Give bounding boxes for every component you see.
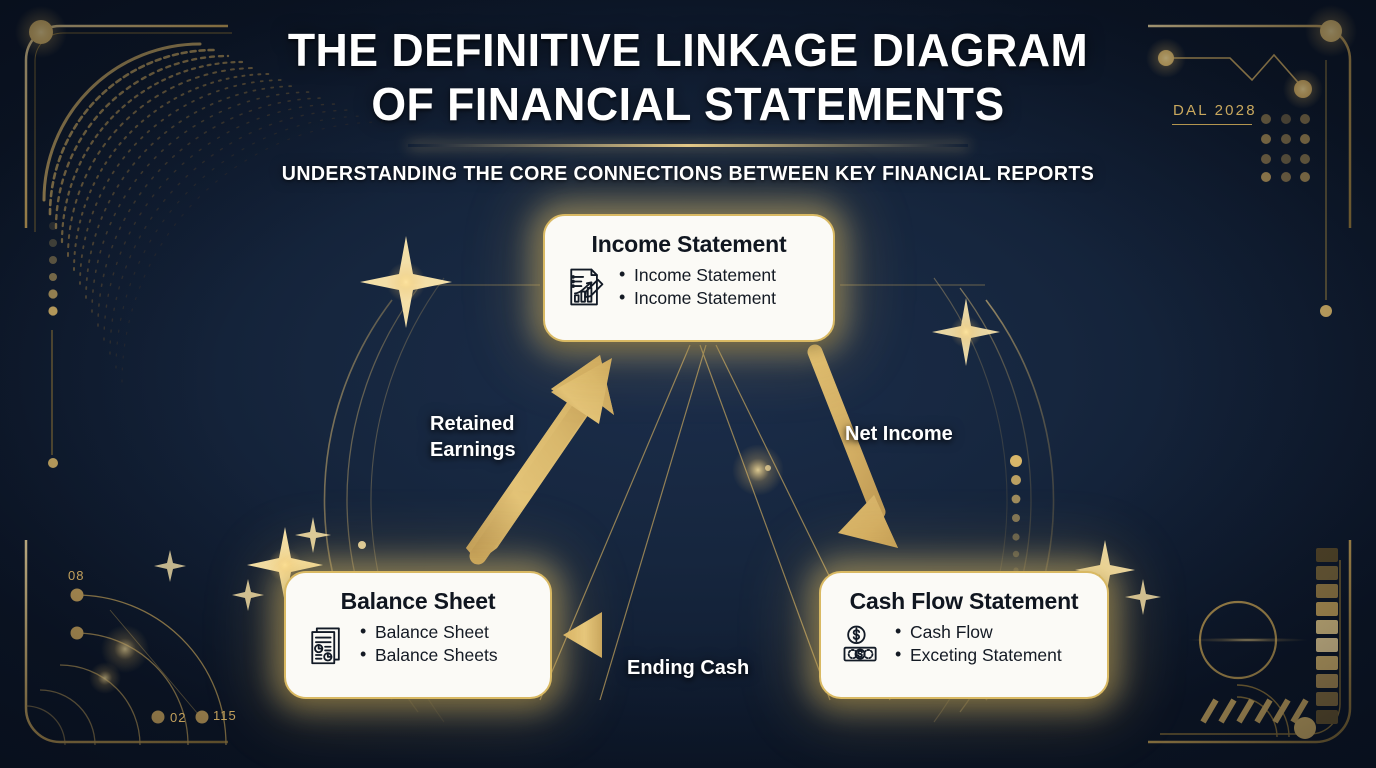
sparkle-icon bbox=[932, 298, 1000, 366]
list-item: Cash Flow bbox=[895, 621, 1062, 644]
node-card-income-statement[interactable]: Income Statement Income Statement bbox=[543, 214, 835, 342]
card-bullet-list: Cash Flow Exceting Statement bbox=[895, 621, 1062, 667]
center-flare bbox=[732, 444, 784, 496]
money-cash-icon bbox=[839, 622, 883, 666]
card-title: Balance Sheet bbox=[304, 587, 532, 615]
sparkle-icon bbox=[360, 236, 452, 328]
arrow-net-income bbox=[815, 352, 898, 548]
card-title: Cash Flow Statement bbox=[839, 587, 1089, 615]
sparkle-dot bbox=[358, 541, 366, 549]
list-item: Income Statement bbox=[619, 287, 776, 310]
list-item: Balance Sheet bbox=[360, 621, 498, 644]
infographic-canvas: THE DEFINITIVE LINKAGE DIAGRAM OF FINANC… bbox=[0, 0, 1376, 768]
sparkle-icon bbox=[232, 579, 264, 611]
header: THE DEFINITIVE LINKAGE DIAGRAM OF FINANC… bbox=[0, 24, 1376, 186]
sparkle-icon bbox=[154, 550, 186, 582]
list-item: Balance Sheets bbox=[360, 644, 498, 667]
document-chart-pen-icon bbox=[563, 265, 607, 309]
document-report-icon bbox=[304, 622, 348, 666]
card-bullet-list: Balance Sheet Balance Sheets bbox=[360, 621, 498, 667]
decor-radial-label-115: 115 bbox=[213, 708, 237, 723]
page-subtitle: UNDERSTANDING THE CORE CONNECTIONS BETWE… bbox=[14, 163, 1362, 186]
connection-label-net-income: Net Income bbox=[845, 421, 953, 447]
card-bullet-list: Income Statement Income Statement bbox=[619, 264, 776, 310]
connection-label-line1: Retained bbox=[430, 411, 550, 437]
card-title: Income Statement bbox=[563, 230, 815, 258]
page-title-line2: OF FINANCIAL STATEMENTS bbox=[21, 78, 1356, 130]
list-item: Income Statement bbox=[619, 264, 776, 287]
sparkle-icon bbox=[1125, 579, 1161, 615]
node-card-balance-sheet[interactable]: Balance Sheet Balance Sheet Balance Shee… bbox=[284, 571, 552, 699]
connection-label-ending-cash: Ending Cash bbox=[627, 655, 749, 681]
arrow-ending-cash bbox=[563, 612, 805, 658]
node-card-cash-flow-statement[interactable]: Cash Flow Statement Cash Flow Exceting S… bbox=[819, 571, 1109, 699]
connection-label-line2: Earnings bbox=[430, 437, 550, 463]
decor-radial-label-02: 02 bbox=[170, 710, 186, 725]
list-item: Exceting Statement bbox=[895, 644, 1062, 667]
connection-label-retained-earnings: Retained Earnings bbox=[430, 411, 550, 463]
title-divider bbox=[408, 144, 968, 147]
decor-radial-label-08: 08 bbox=[68, 568, 84, 583]
page-title-line1: THE DEFINITIVE LINKAGE DIAGRAM bbox=[21, 24, 1356, 76]
